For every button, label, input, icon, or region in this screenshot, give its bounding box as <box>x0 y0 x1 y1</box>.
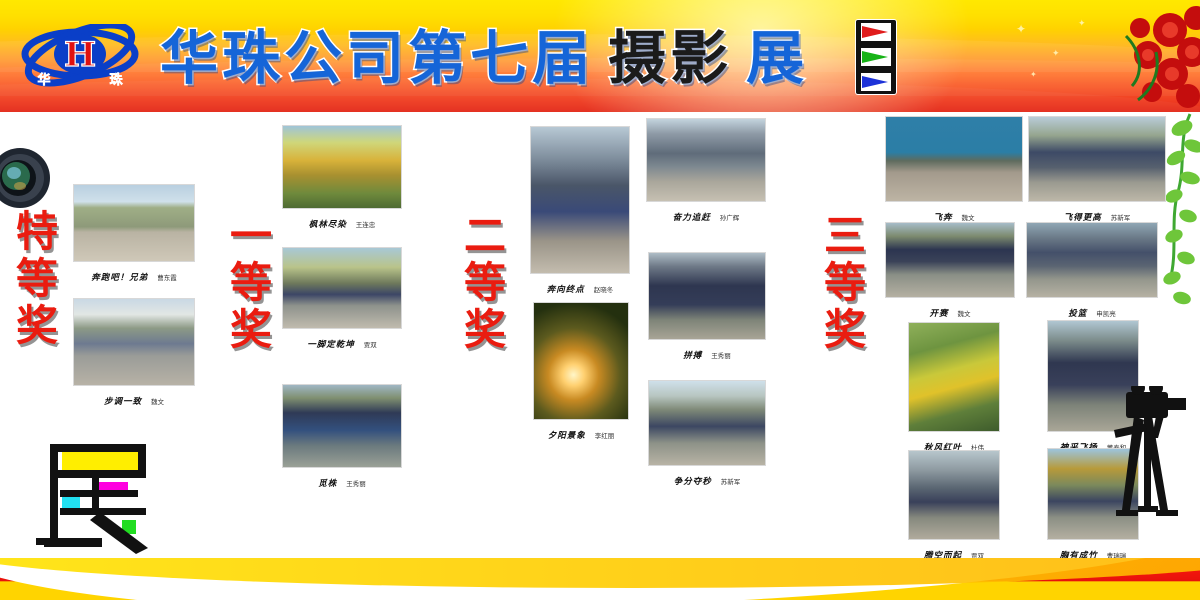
prize-label-char: 等 <box>4 255 70 302</box>
photo-card[interactable]: 步调一致 魏文 <box>73 298 195 408</box>
photo-card[interactable]: 奋力追赶 孙广辉 <box>646 118 766 224</box>
title-char: 七 <box>470 29 528 87</box>
photo-image <box>648 252 766 340</box>
photo-image <box>908 322 1000 432</box>
photo-title: 开赛 <box>929 309 948 319</box>
photo-author: 魏文 <box>962 214 975 222</box>
prize-label-first: 一 等 奖 <box>218 212 284 353</box>
photo-author: 苏新军 <box>1111 214 1131 222</box>
videographer-silhouette-icon <box>1104 386 1194 518</box>
photo-title: 步调一致 <box>104 397 142 407</box>
photo-title: 一脚定乾坤 <box>307 340 355 350</box>
prize-label-char: 等 <box>452 259 518 306</box>
photo-card[interactable]: 飞得更高 苏新军 <box>1028 116 1166 224</box>
photo-caption: 争分夺秒 苏新军 <box>648 469 766 488</box>
title-char: 公 <box>284 29 342 87</box>
prize-label-char: 奖 <box>812 306 878 353</box>
photo-card[interactable]: 飞奔 魏文 <box>885 116 1023 224</box>
photo-title: 投篮 <box>1068 309 1087 319</box>
photo-image <box>885 222 1015 298</box>
photo-title: 拼搏 <box>683 351 702 361</box>
photo-author: 孙广辉 <box>720 214 740 222</box>
photo-caption: 投篮 申凯亮 <box>1026 301 1158 320</box>
title-char: 华 <box>160 29 218 87</box>
photo-card[interactable]: 夕阳景象 李红丽 <box>533 302 629 442</box>
photo-card[interactable]: 觅株 王秀丽 <box>282 384 402 490</box>
svg-text:珠: 珠 <box>109 72 123 88</box>
camera-lens-icon <box>0 146 52 210</box>
title-char: 展 <box>746 29 804 87</box>
prize-label-char: 特 <box>4 208 70 255</box>
prize-label-char: 二 <box>452 212 518 259</box>
photo-image <box>1026 222 1158 298</box>
prize-label-char: 奖 <box>452 306 518 353</box>
photo-caption: 奋力追赶 孙广辉 <box>646 205 766 224</box>
prize-label-char: 等 <box>812 259 878 306</box>
photo-image <box>1028 116 1166 202</box>
prize-label-char: 奖 <box>4 302 70 349</box>
prize-label-char: 等 <box>218 259 284 306</box>
photo-author: 魏文 <box>151 398 164 406</box>
photo-image <box>530 126 630 274</box>
film-strip-icon <box>856 20 896 94</box>
title-char: 第 <box>408 29 466 87</box>
photo-image <box>73 184 195 262</box>
photo-card[interactable]: 一脚定乾坤 贾双 <box>282 247 402 351</box>
photo-image <box>73 298 195 386</box>
photo-image <box>885 116 1023 202</box>
title-char: 影 <box>670 29 728 87</box>
photo-author: 魏文 <box>958 310 971 318</box>
photo-card[interactable]: 枫林尽染 王连忠 <box>282 125 402 231</box>
photo-card[interactable]: 奔跑吧！兄弟 曹东霞 <box>73 184 195 284</box>
photo-image <box>908 450 1000 540</box>
photo-caption: 奔向终点 赵晓冬 <box>530 277 630 296</box>
title-char: 司 <box>346 29 404 87</box>
photo-card[interactable]: 腾空而起 贾双 <box>908 450 1000 562</box>
photo-image <box>533 302 629 420</box>
prize-label-char: 奖 <box>218 306 284 353</box>
photo-caption: 夕阳景象 李红丽 <box>533 423 629 442</box>
banner-title: 华 珠 公 司 第 七 届 摄 影 展 <box>160 18 1040 98</box>
prize-label-second: 二 等 奖 <box>452 212 518 353</box>
photo-image <box>282 384 402 468</box>
header-banner: H 华 珠 华 珠 公 司 第 七 届 摄 影 展 ✦ ✦ <box>0 0 1200 112</box>
photo-card[interactable]: 拼搏 王秀丽 <box>648 252 766 362</box>
photo-title: 觅株 <box>318 479 337 489</box>
photo-title: 奋力追赶 <box>673 213 711 223</box>
photo-author: 王连忠 <box>356 221 376 229</box>
photo-caption: 一脚定乾坤 贾双 <box>282 332 402 351</box>
photo-exhibition-board: H 华 珠 华 珠 公 司 第 七 届 摄 影 展 ✦ ✦ <box>0 0 1200 600</box>
photo-title: 枫林尽染 <box>309 220 347 230</box>
photo-card[interactable]: 秋风红叶 杜伟 <box>908 322 1000 454</box>
prize-label-third: 三 等 奖 <box>812 212 878 353</box>
photo-author: 贾双 <box>364 341 377 349</box>
svg-text:华: 华 <box>37 72 50 88</box>
photo-card[interactable]: 投篮 申凯亮 <box>1026 222 1158 320</box>
photo-card[interactable]: 争分夺秒 苏新军 <box>648 380 766 488</box>
photo-author: 曹东霞 <box>157 274 177 282</box>
photo-caption: 枫林尽染 王连忠 <box>282 212 402 231</box>
photo-image <box>648 380 766 466</box>
photo-card[interactable]: 奔向终点 赵晓冬 <box>530 126 630 296</box>
svg-text:H: H <box>64 35 96 75</box>
photo-title: 奔跑吧！兄弟 <box>91 273 148 283</box>
exhibition-mark <box>0 434 185 554</box>
photo-author: 赵晓冬 <box>594 286 614 294</box>
footer-bar <box>0 558 1200 600</box>
photo-author: 王秀丽 <box>711 352 731 360</box>
photo-card[interactable]: 开赛 魏文 <box>885 222 1015 320</box>
title-char: 珠 <box>222 29 280 87</box>
photo-author: 苏新军 <box>721 478 741 486</box>
photo-author: 李红丽 <box>595 432 615 440</box>
photo-caption: 拼搏 王秀丽 <box>648 343 766 362</box>
photo-title: 奔向终点 <box>547 285 585 295</box>
title-char: 摄 <box>608 29 666 87</box>
photo-author: 王秀丽 <box>346 480 366 488</box>
photo-caption: 奔跑吧！兄弟 曹东霞 <box>73 265 195 284</box>
prize-label-special: 特 等 奖 <box>4 208 70 349</box>
photo-title: 夕阳景象 <box>548 431 586 441</box>
photo-image <box>282 125 402 209</box>
prize-label-char: 一 <box>218 212 284 259</box>
company-logo: H 华 珠 <box>20 24 140 90</box>
photo-caption: 觅株 王秀丽 <box>282 471 402 490</box>
photo-caption: 步调一致 魏文 <box>73 389 195 408</box>
photo-image <box>646 118 766 202</box>
prize-label-char: 三 <box>812 212 878 259</box>
photo-caption: 开赛 魏文 <box>885 301 1015 320</box>
exhibition-main: 特 等 奖 奔跑吧！兄弟 曹东霞 步调一致 魏文 一 等 奖 <box>0 112 1200 560</box>
flower-decoration <box>1020 0 1200 112</box>
photo-image <box>282 247 402 329</box>
photo-title: 争分夺秒 <box>674 477 712 487</box>
title-char: 届 <box>532 29 590 87</box>
photo-author: 申凯亮 <box>1096 310 1116 318</box>
